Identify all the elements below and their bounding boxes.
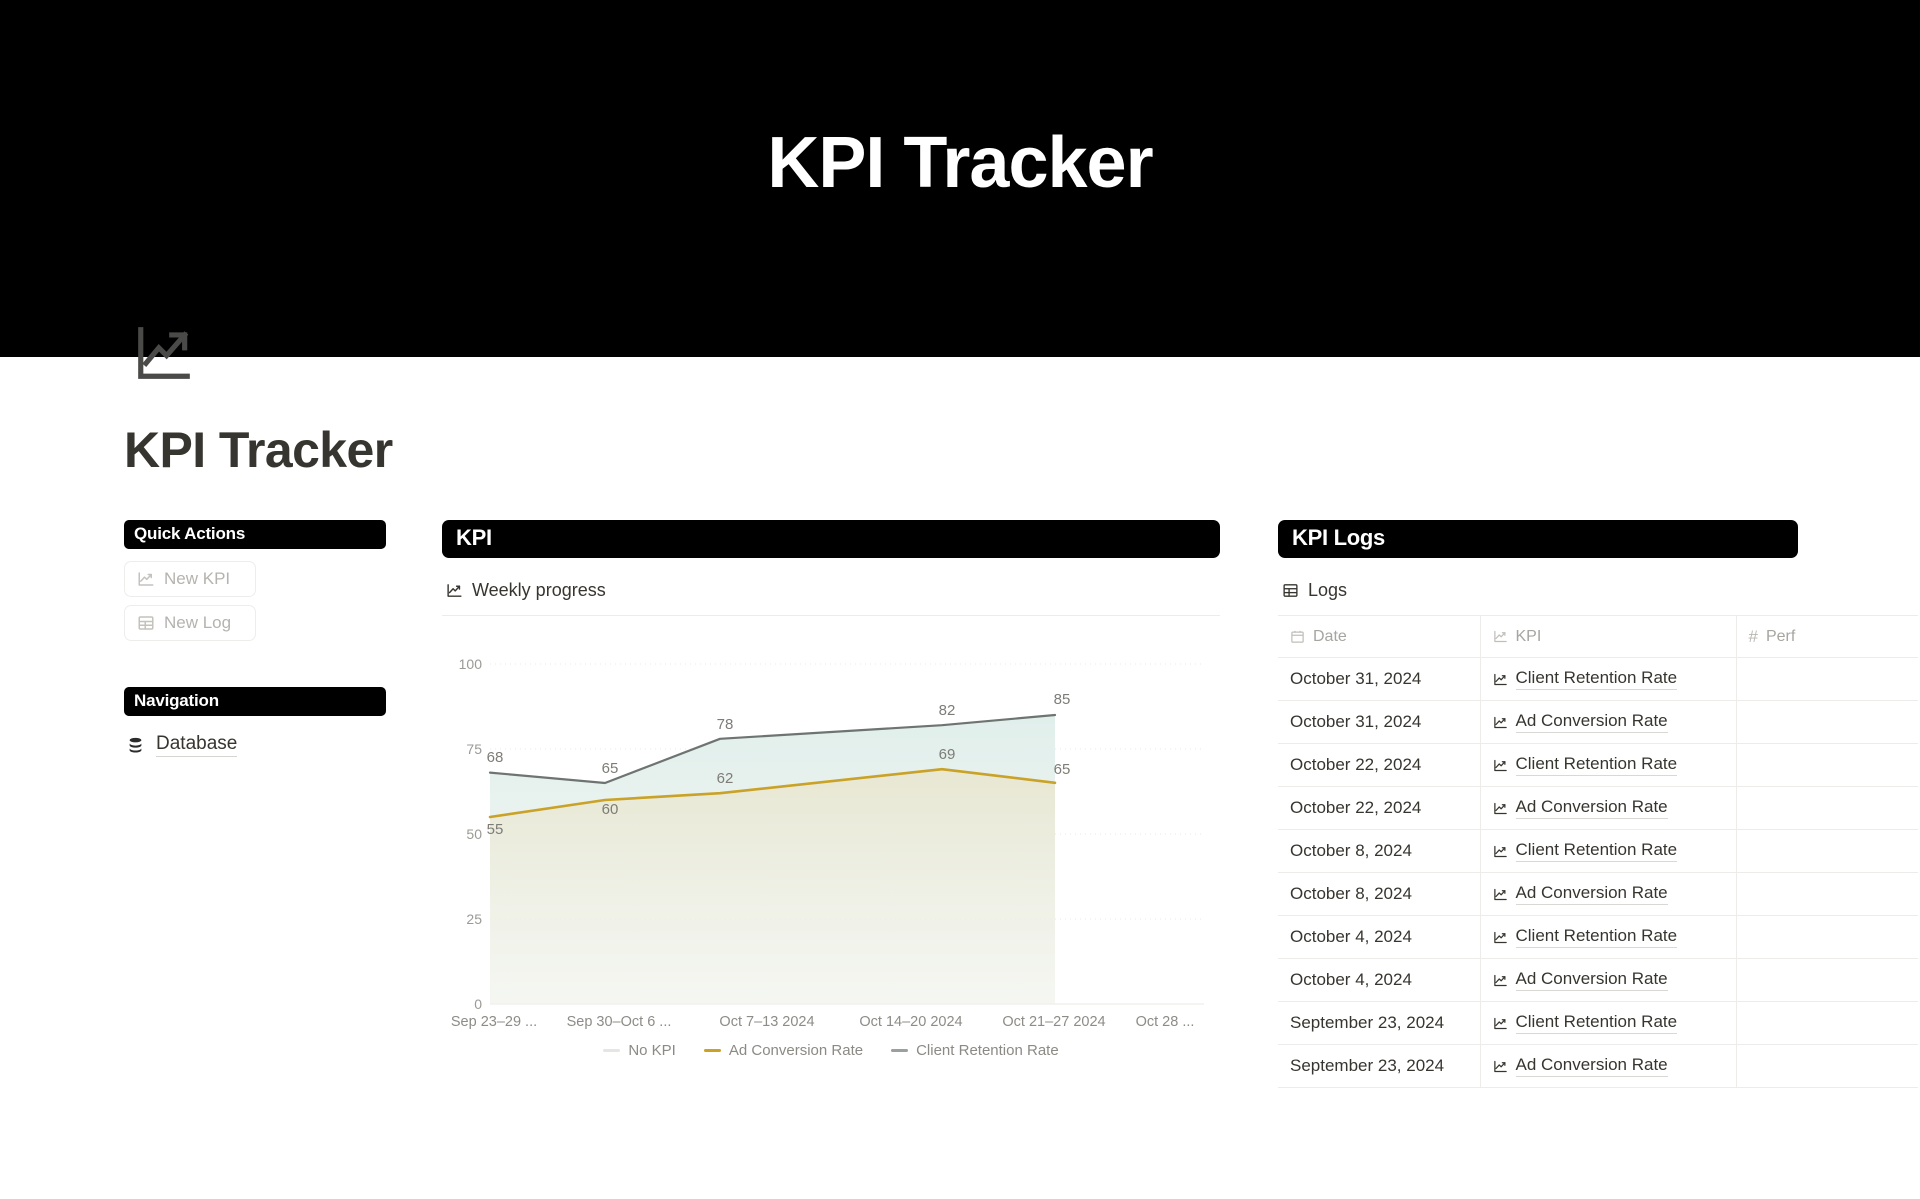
line-chart-icon xyxy=(137,570,155,588)
chart-y-tick-labels: 100 75 50 25 0 xyxy=(459,656,483,1012)
navigation-section: Navigation Database xyxy=(124,687,386,760)
cell-date: October 4, 2024 xyxy=(1278,916,1480,959)
line-chart-icon xyxy=(1493,887,1508,902)
quick-actions-heading: Quick Actions xyxy=(124,520,386,549)
cell-kpi: Client Retention Rate xyxy=(1480,744,1736,787)
column-header-date-label: Date xyxy=(1313,628,1347,646)
svg-text:50: 50 xyxy=(466,826,482,842)
new-log-button[interactable]: New Log xyxy=(124,605,256,641)
calendar-icon xyxy=(1290,629,1305,644)
kpi-card-heading: KPI xyxy=(442,520,1220,558)
cell-perf xyxy=(1736,744,1918,787)
legend-item-client-retention-rate[interactable]: Client Retention Rate xyxy=(891,1042,1059,1059)
cell-date: October 22, 2024 xyxy=(1278,744,1480,787)
hero-title: KPI Tracker xyxy=(767,127,1152,199)
line-chart-icon xyxy=(1493,930,1508,945)
cell-kpi-label: Client Retention Rate xyxy=(1516,840,1678,862)
svg-text:75: 75 xyxy=(466,741,482,757)
new-kpi-label: New KPI xyxy=(164,569,230,589)
legend-label-no-kpi: No KPI xyxy=(628,1042,676,1059)
legend-swatch-no-kpi xyxy=(603,1049,620,1052)
svg-text:69: 69 xyxy=(939,746,956,763)
line-chart-icon xyxy=(1493,1059,1508,1074)
cell-kpi-label: Client Retention Rate xyxy=(1516,1012,1678,1034)
chart-legend: No KPI Ad Conversion Rate Client Retenti… xyxy=(442,1042,1220,1059)
line-chart-icon xyxy=(1493,973,1508,988)
line-chart-icon xyxy=(1493,1016,1508,1031)
cell-kpi-label: Ad Conversion Rate xyxy=(1516,797,1668,819)
table-row[interactable]: October 22, 2024 Client Retention Rate xyxy=(1278,744,1918,787)
chart-x-tick-labels: Sep 23–29 ... Sep 30–Oct 6 ... Oct 7–13 … xyxy=(451,1014,1195,1030)
table-row[interactable]: October 4, 2024 Ad Conversion Rate xyxy=(1278,959,1918,1002)
svg-text:68: 68 xyxy=(487,749,504,766)
legend-label-client-retention-rate: Client Retention Rate xyxy=(916,1042,1059,1059)
number-icon: # xyxy=(1749,628,1758,645)
sidebar-item-database[interactable]: Database xyxy=(124,730,386,760)
hero-banner: KPI Tracker xyxy=(0,0,1920,357)
legend-swatch-client-retention-rate xyxy=(891,1049,908,1052)
cell-kpi: Ad Conversion Rate xyxy=(1480,1045,1736,1088)
cell-kpi: Ad Conversion Rate xyxy=(1480,787,1736,830)
svg-text:Oct 28 ...: Oct 28 ... xyxy=(1136,1014,1195,1030)
cell-perf xyxy=(1736,1045,1918,1088)
kpi-card-body: Weekly progress xyxy=(442,570,1220,1036)
svg-text:100: 100 xyxy=(459,656,483,672)
logs-table: Date xyxy=(1278,615,1918,1088)
new-log-label: New Log xyxy=(164,613,231,633)
svg-text:65: 65 xyxy=(602,760,619,777)
cell-date: October 8, 2024 xyxy=(1278,873,1480,916)
new-kpi-button[interactable]: New KPI xyxy=(124,561,256,597)
svg-text:Sep 30–Oct 6 ...: Sep 30–Oct 6 ... xyxy=(567,1014,672,1030)
line-chart-icon xyxy=(1493,672,1508,687)
column-header-kpi-label: KPI xyxy=(1516,628,1542,646)
legend-item-ad-conversion-rate[interactable]: Ad Conversion Rate xyxy=(704,1042,863,1059)
svg-text:60: 60 xyxy=(602,801,619,818)
line-chart-icon xyxy=(1493,801,1508,816)
page-icon-line-chart-icon[interactable] xyxy=(133,322,195,384)
svg-text:85: 85 xyxy=(1054,691,1071,708)
line-chart-icon xyxy=(1493,629,1508,644)
cell-date: October 31, 2024 xyxy=(1278,701,1480,744)
table-row[interactable]: October 31, 2024 Ad Conversion Rate xyxy=(1278,701,1918,744)
cell-date: September 23, 2024 xyxy=(1278,1002,1480,1045)
svg-text:62: 62 xyxy=(717,770,734,787)
svg-text:25: 25 xyxy=(466,911,482,927)
svg-text:82: 82 xyxy=(939,702,956,719)
table-row[interactable]: October 31, 2024 Client Retention Rate xyxy=(1278,658,1918,701)
svg-text:0: 0 xyxy=(474,996,482,1012)
column-header-perf[interactable]: # Perf xyxy=(1736,616,1918,658)
svg-text:55: 55 xyxy=(487,821,504,838)
table-row[interactable]: October 4, 2024 Client Retention Rate xyxy=(1278,916,1918,959)
table-row[interactable]: September 23, 2024 Client Retention Rate xyxy=(1278,1002,1918,1045)
logs-card-body: Logs xyxy=(1278,570,1918,1088)
svg-text:Sep 23–29 ...: Sep 23–29 ... xyxy=(451,1014,537,1030)
cell-kpi-label: Ad Conversion Rate xyxy=(1516,711,1668,733)
navigation-list: Database xyxy=(124,730,386,760)
column-header-perf-label: Perf xyxy=(1766,628,1795,646)
sidebar-item-database-label: Database xyxy=(156,733,237,757)
cell-date: October 8, 2024 xyxy=(1278,830,1480,873)
svg-text:Oct 21–27 2024: Oct 21–27 2024 xyxy=(1002,1014,1105,1030)
cell-perf xyxy=(1736,787,1918,830)
cell-date: September 23, 2024 xyxy=(1278,1045,1480,1088)
table-icon xyxy=(1282,582,1299,599)
kpi-view-title: Weekly progress xyxy=(472,580,606,601)
table-icon xyxy=(137,614,155,632)
cell-date: October 4, 2024 xyxy=(1278,959,1480,1002)
navigation-heading: Navigation xyxy=(124,687,386,716)
cell-kpi: Client Retention Rate xyxy=(1480,916,1736,959)
legend-item-no-kpi[interactable]: No KPI xyxy=(603,1042,676,1059)
kpi-view-title-row[interactable]: Weekly progress xyxy=(442,570,1220,616)
cell-kpi: Ad Conversion Rate xyxy=(1480,873,1736,916)
table-row[interactable]: October 8, 2024 Ad Conversion Rate xyxy=(1278,873,1918,916)
logs-card: KPI Logs Logs xyxy=(1278,520,1918,1088)
line-chart-icon xyxy=(446,582,463,599)
svg-text:Oct 7–13 2024: Oct 7–13 2024 xyxy=(719,1014,814,1030)
cell-kpi: Ad Conversion Rate xyxy=(1480,701,1736,744)
logs-table-body: October 31, 2024 Client Retention Rate O… xyxy=(1278,658,1918,1088)
cell-kpi: Client Retention Rate xyxy=(1480,830,1736,873)
table-row[interactable]: September 23, 2024 Ad Conversion Rate xyxy=(1278,1045,1918,1088)
cell-kpi: Client Retention Rate xyxy=(1480,1002,1736,1045)
cell-kpi-label: Ad Conversion Rate xyxy=(1516,1055,1668,1077)
svg-text:78: 78 xyxy=(717,716,734,733)
cell-perf xyxy=(1736,959,1918,1002)
cell-kpi-label: Client Retention Rate xyxy=(1516,668,1678,690)
svg-text:65: 65 xyxy=(1054,761,1071,778)
cell-kpi-label: Ad Conversion Rate xyxy=(1516,969,1668,991)
column-header-date[interactable]: Date xyxy=(1278,616,1480,658)
legend-label-ad-conversion-rate: Ad Conversion Rate xyxy=(729,1042,863,1059)
legend-swatch-ad-conversion-rate xyxy=(704,1049,721,1052)
cell-kpi-label: Client Retention Rate xyxy=(1516,926,1678,948)
cell-kpi: Ad Conversion Rate xyxy=(1480,959,1736,1002)
cell-perf xyxy=(1736,658,1918,701)
weekly-progress-chart[interactable]: 100 75 50 25 0 xyxy=(442,616,1220,1036)
logs-view-title: Logs xyxy=(1308,580,1347,601)
cell-date: October 22, 2024 xyxy=(1278,787,1480,830)
database-icon xyxy=(126,736,145,755)
cell-kpi-label: Ad Conversion Rate xyxy=(1516,883,1668,905)
cell-kpi: Client Retention Rate xyxy=(1480,658,1736,701)
cell-perf xyxy=(1736,916,1918,959)
column-header-kpi[interactable]: KPI xyxy=(1480,616,1736,658)
cell-kpi-label: Client Retention Rate xyxy=(1516,754,1678,776)
logs-view-title-row[interactable]: Logs xyxy=(1278,570,1918,615)
sidebar: Quick Actions New KPI xyxy=(124,520,386,760)
logs-table-header-row: Date xyxy=(1278,616,1918,658)
line-chart-icon xyxy=(1493,844,1508,859)
chart-svg: 100 75 50 25 0 xyxy=(442,634,1220,1034)
cell-perf xyxy=(1736,701,1918,744)
table-row[interactable]: October 22, 2024 Ad Conversion Rate xyxy=(1278,787,1918,830)
cell-perf xyxy=(1736,873,1918,916)
page-title: KPI Tracker xyxy=(124,423,393,478)
kpi-card: KPI Weekly progress xyxy=(442,520,1220,1036)
cell-perf xyxy=(1736,830,1918,873)
logs-card-heading: KPI Logs xyxy=(1278,520,1798,558)
quick-actions-list: New KPI New Log xyxy=(124,561,386,641)
svg-text:Oct 14–20 2024: Oct 14–20 2024 xyxy=(859,1014,962,1030)
line-chart-icon xyxy=(1493,715,1508,730)
cell-perf xyxy=(1736,1002,1918,1045)
line-chart-icon xyxy=(1493,758,1508,773)
cell-date: October 31, 2024 xyxy=(1278,658,1480,701)
table-row[interactable]: October 8, 2024 Client Retention Rate xyxy=(1278,830,1918,873)
